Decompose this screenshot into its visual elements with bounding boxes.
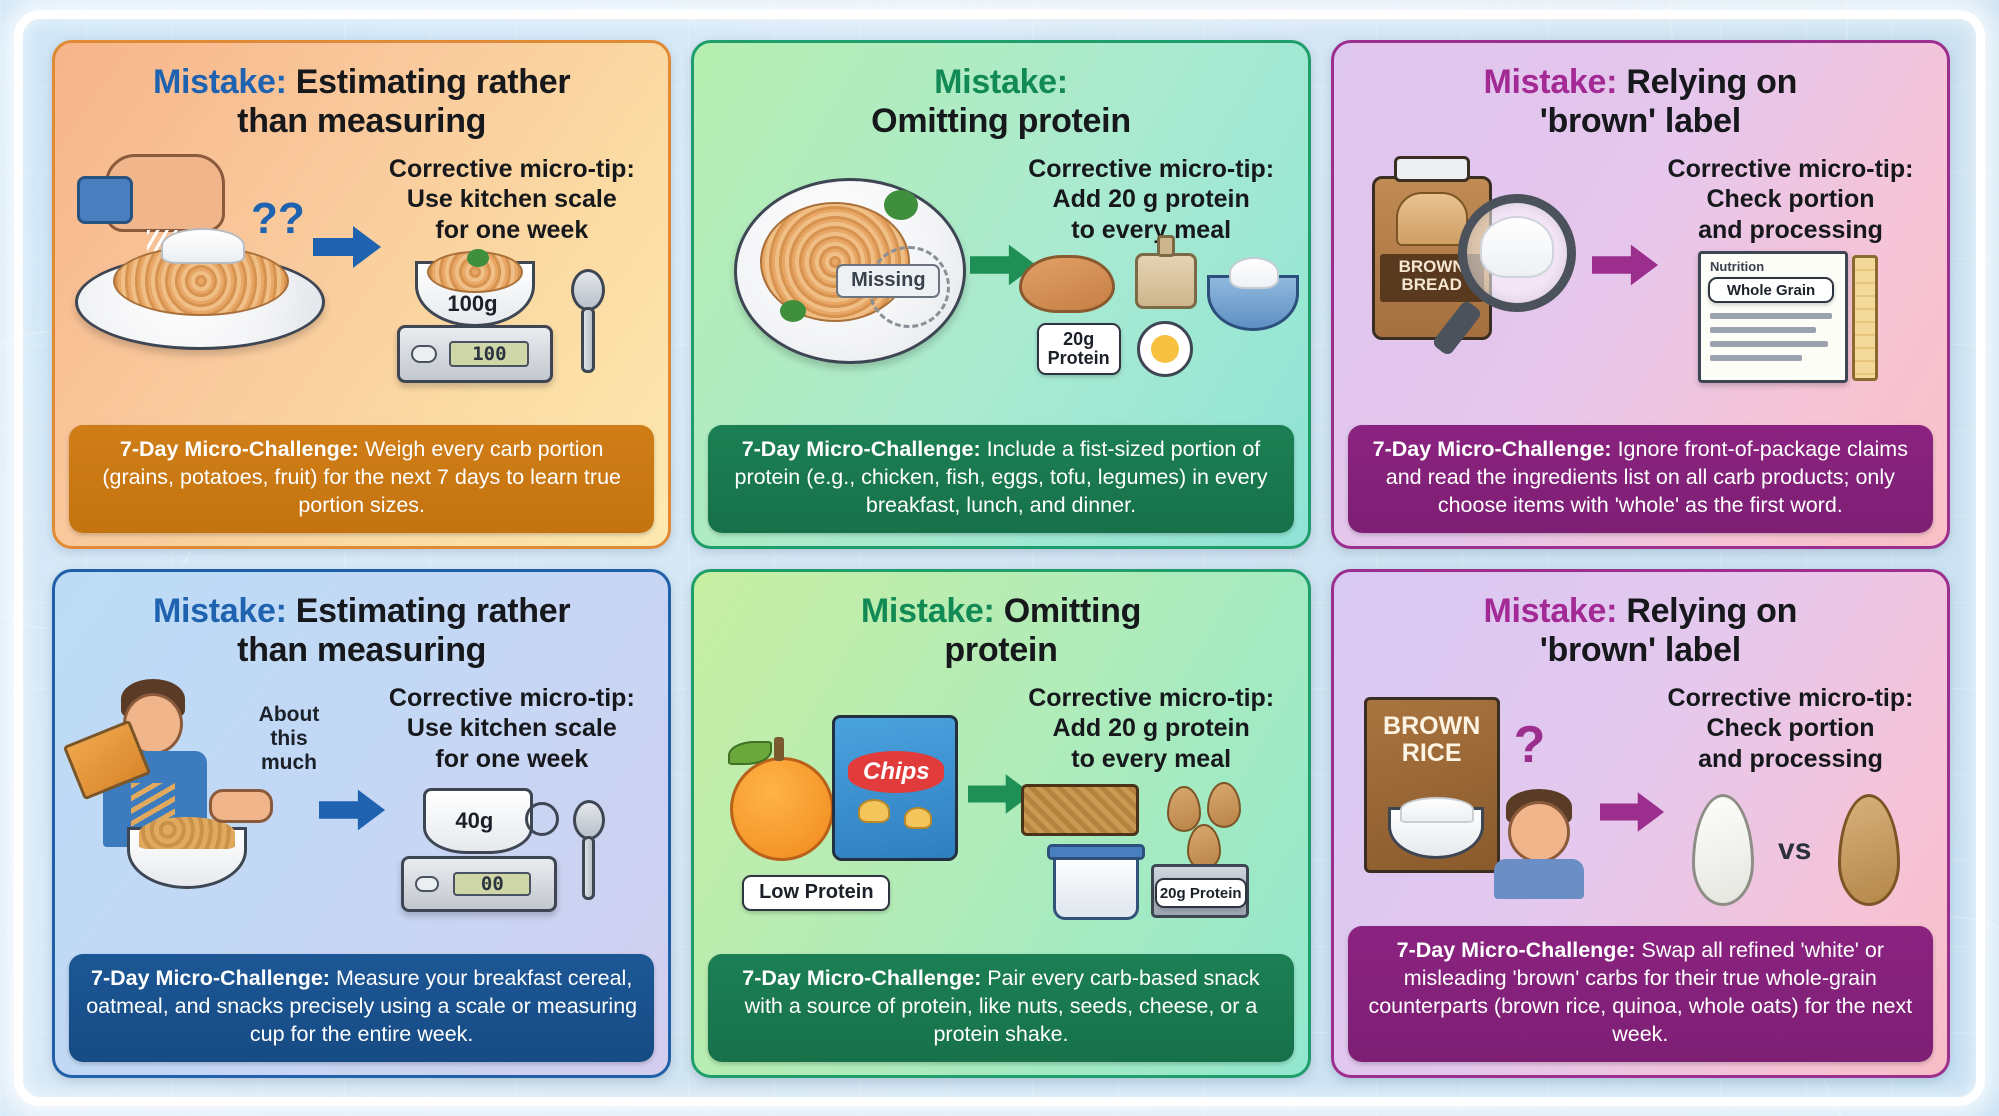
tip-line-2: Use kitchen scale bbox=[375, 184, 648, 215]
egg-yolk-icon bbox=[1151, 335, 1179, 363]
card-body: BROWN BREAD Corrective micro-tip: Check … bbox=[1334, 146, 1947, 425]
about-line-2: this bbox=[270, 727, 307, 750]
broccoli-icon bbox=[884, 190, 918, 220]
tip-line-1: Corrective micro-tip: bbox=[1015, 154, 1288, 185]
doc-line bbox=[1710, 327, 1816, 333]
about-this-much-label: About this much bbox=[247, 703, 331, 775]
weight-label: 100g bbox=[447, 291, 497, 318]
about-line-3: much bbox=[261, 751, 317, 774]
illustration-hand-rice-pasta: ?? bbox=[69, 150, 373, 425]
card-body: ?? Corrective micro-tip: Use kitchen sca… bbox=[55, 146, 668, 425]
card-title-rest-2: than measuring bbox=[237, 102, 486, 140]
protein-tag-line-1: 20g bbox=[1063, 330, 1094, 349]
chips-logo: Chips bbox=[848, 751, 944, 793]
chicken-breast-icon bbox=[1019, 255, 1115, 313]
almond-icon bbox=[1207, 782, 1241, 828]
card-estimating-bottom[interactable]: Mistake: Estimating rather than measurin… bbox=[52, 569, 671, 1078]
bread-label-line-1: BROWN bbox=[1399, 257, 1465, 276]
tip-text: Corrective micro-tip: Add 20 g protein t… bbox=[1013, 679, 1294, 941]
scoop-handle-icon bbox=[1157, 235, 1175, 257]
ruler-icon bbox=[1852, 255, 1878, 381]
scale-display: 00 bbox=[453, 872, 531, 896]
tip-line-1: Corrective micro-tip: bbox=[1654, 154, 1927, 185]
brown-grain-icon bbox=[1838, 794, 1900, 906]
card-title: Mistake: Omitting protein bbox=[694, 572, 1307, 675]
illustration-brown-rice-box: BROWN RICE ? bbox=[1348, 679, 1652, 926]
low-protein-label: Low Protein bbox=[742, 875, 890, 911]
challenge-banner: 7-Day Micro-Challenge: Pair every carb-b… bbox=[708, 954, 1293, 1062]
tip-line-2: Check portion bbox=[1654, 184, 1927, 215]
challenge-label: 7-Day Micro-Challenge: bbox=[1397, 938, 1642, 962]
card-title-rest-1: Omitting protein bbox=[871, 102, 1131, 140]
spoon-icon bbox=[573, 800, 605, 840]
tip-line-1: Corrective micro-tip: bbox=[375, 683, 648, 714]
card-body: Missing Corrective micro-tip: Add 20 g p… bbox=[694, 146, 1307, 425]
tip-line-3: for one week bbox=[375, 215, 648, 246]
torso-icon bbox=[1494, 859, 1584, 899]
tip-text: Corrective micro-tip: Use kitchen scale … bbox=[373, 150, 654, 406]
card-title-rest-2: than measuring bbox=[237, 631, 486, 669]
card-title-rest-2: protein bbox=[944, 631, 1057, 669]
challenge-banner: 7-Day Micro-Challenge: Include a fist-si… bbox=[708, 425, 1293, 533]
whole-grain-claim-label: Whole Grain bbox=[1708, 277, 1834, 303]
tip-line-2: Add 20 g protein bbox=[1015, 713, 1288, 744]
almond-icon bbox=[1167, 786, 1201, 832]
card-body: BROWN RICE ? Corrective micro-tip: Check… bbox=[1334, 675, 1947, 926]
rice-mound-icon bbox=[161, 228, 245, 264]
bread-slice-icon bbox=[1396, 192, 1468, 246]
card-title: Mistake: Estimating rather than measurin… bbox=[55, 572, 668, 675]
scale-button-icon bbox=[415, 876, 439, 892]
card-title-lead: Mistake: bbox=[1484, 592, 1627, 630]
tip-line-3: for one week bbox=[375, 744, 648, 775]
cup-handle-icon bbox=[525, 802, 559, 836]
card-title: Mistake: Relying on 'brown' label bbox=[1334, 43, 1947, 146]
bread-bag-top-icon bbox=[1394, 156, 1470, 182]
yogurt-lid-icon bbox=[1047, 844, 1145, 860]
doc-line bbox=[1710, 341, 1828, 347]
card-estimating-top[interactable]: Mistake: Estimating rather than measurin… bbox=[52, 40, 671, 549]
illustration-person-pouring-cereal: About this much bbox=[69, 679, 373, 954]
tip-line-3: and processing bbox=[1654, 215, 1927, 246]
protein-tag-line-2: Protein bbox=[1048, 349, 1110, 368]
scale-button-icon bbox=[411, 345, 437, 363]
card-title: Mistake: Relying on 'brown' label bbox=[1334, 572, 1947, 675]
protein-bar-icon bbox=[1021, 784, 1139, 836]
hand-open-icon bbox=[209, 789, 273, 823]
card-title-lead: Mistake: bbox=[153, 63, 296, 101]
question-mark-label: ? bbox=[1514, 715, 1546, 775]
card-title-rest-1: Estimating rather bbox=[296, 63, 571, 101]
card-title-lead: Mistake: bbox=[861, 592, 1004, 630]
rice-pile-icon bbox=[1400, 797, 1474, 823]
white-grain-icon bbox=[1692, 794, 1754, 906]
tip-line-2: Use kitchen scale bbox=[375, 713, 648, 744]
card-title-lead: Mistake: bbox=[1484, 63, 1627, 101]
weight-label: 40g bbox=[455, 808, 493, 835]
orange-icon bbox=[730, 757, 834, 861]
bread-label-line-2: BREAD bbox=[1401, 275, 1461, 294]
challenge-banner: 7-Day Micro-Challenge: Measure your brea… bbox=[69, 954, 654, 1062]
tip-line-1: Corrective micro-tip: bbox=[1654, 683, 1927, 714]
challenge-banner: 7-Day Micro-Challenge: Ignore front-of-p… bbox=[1348, 425, 1933, 533]
challenge-label: 7-Day Micro-Challenge: bbox=[120, 437, 365, 461]
tip-line-3: to every meal bbox=[1015, 215, 1288, 246]
illustration-orange-chips: Chips Low Protein bbox=[708, 679, 1012, 954]
missing-label: Missing bbox=[836, 264, 940, 298]
tip-line-3: to every meal bbox=[1015, 744, 1288, 775]
card-brown-label-top[interactable]: Mistake: Relying on 'brown' label BROWN … bbox=[1331, 40, 1950, 549]
challenge-label: 7-Day Micro-Challenge: bbox=[742, 966, 987, 990]
illustration-plate-missing-protein: Missing bbox=[708, 150, 1012, 425]
head-icon bbox=[1508, 801, 1570, 863]
card-title-rest-2: 'brown' label bbox=[1540, 102, 1741, 140]
box-line-2: RICE bbox=[1402, 739, 1462, 767]
about-line-1: About bbox=[259, 703, 320, 726]
vs-label: vs bbox=[1778, 832, 1811, 869]
tip-text: Corrective micro-tip: Add 20 g protein t… bbox=[1013, 150, 1294, 402]
flour-icon bbox=[1480, 216, 1554, 278]
tip-text: Corrective micro-tip: Use kitchen scale … bbox=[373, 679, 654, 935]
challenge-banner: 7-Day Micro-Challenge: Weigh every carb … bbox=[69, 425, 654, 533]
challenge-label: 7-Day Micro-Challenge: bbox=[742, 437, 987, 461]
spoon-handle bbox=[581, 307, 595, 373]
challenge-label: 7-Day Micro-Challenge: bbox=[91, 966, 336, 990]
tip-line-2: Add 20 g protein bbox=[1015, 184, 1288, 215]
card-body: Chips Low Protein Corrective micro-tip: … bbox=[694, 675, 1307, 954]
doc-title-label: Nutrition bbox=[1710, 259, 1764, 275]
challenge-label: 7-Day Micro-Challenge: bbox=[1373, 437, 1618, 461]
tip-text: Corrective micro-tip: Check portion and … bbox=[1652, 679, 1933, 949]
doc-line bbox=[1710, 313, 1832, 319]
card-title: Mistake: Omitting protein bbox=[694, 43, 1307, 146]
card-title-rest-1: Relying on bbox=[1626, 592, 1797, 630]
broccoli-icon bbox=[780, 300, 806, 322]
tip-line-1: Corrective micro-tip: bbox=[375, 154, 648, 185]
tip-line-1: Corrective micro-tip: bbox=[1015, 683, 1288, 714]
arrow-right-icon bbox=[313, 224, 383, 270]
tip-text: Corrective micro-tip: Check portion and … bbox=[1652, 150, 1933, 402]
scale-display: 100 bbox=[449, 341, 529, 367]
doc-line bbox=[1710, 355, 1802, 361]
card-title-rest-1: Omitting bbox=[1004, 592, 1141, 630]
tip-line-2: Check portion bbox=[1654, 713, 1927, 744]
spoon-handle bbox=[582, 836, 595, 900]
card-title-rest-1: Estimating rather bbox=[296, 592, 571, 630]
card-body: About this much Corrective micro-tip: Us… bbox=[55, 675, 668, 954]
question-mark-label: ?? bbox=[251, 194, 305, 244]
card-title: Mistake: Estimating rather than measurin… bbox=[55, 43, 668, 146]
protein-tag: 20g Protein bbox=[1155, 878, 1247, 908]
chip-piece-icon bbox=[904, 807, 932, 829]
box-line-1: BROWN bbox=[1383, 712, 1480, 740]
protein-scoop-icon bbox=[1135, 253, 1197, 309]
protein-tag: 20g Protein bbox=[1037, 323, 1121, 375]
card-brown-label-bottom[interactable]: Mistake: Relying on 'brown' label BROWN … bbox=[1331, 569, 1950, 1078]
chip-piece-icon bbox=[858, 799, 890, 823]
card-omitting-protein-top[interactable]: Mistake: Omitting protein Missing Correc… bbox=[691, 40, 1310, 549]
card-title-lead: Mistake: bbox=[153, 592, 296, 630]
rice-box-label: BROWN RICE bbox=[1370, 713, 1494, 768]
card-title-rest-2: 'brown' label bbox=[1540, 631, 1741, 669]
illustration-bread-magnifier: BROWN BREAD bbox=[1348, 150, 1652, 425]
tip-line-3: and processing bbox=[1654, 744, 1927, 775]
card-title-rest-1: Relying on bbox=[1626, 63, 1797, 101]
sleeve-icon bbox=[77, 176, 133, 224]
card-omitting-protein-bottom[interactable]: Mistake: Omitting protein Chips Low Prot… bbox=[691, 569, 1310, 1078]
card-title-lead: Mistake: bbox=[934, 63, 1068, 101]
yogurt-swirl-icon bbox=[1229, 257, 1279, 289]
yogurt-cup-icon bbox=[1053, 852, 1139, 920]
orange-stem-icon bbox=[774, 737, 784, 761]
card-grid: Mistake: Estimating rather than measurin… bbox=[52, 40, 1950, 1078]
arrow-right-icon bbox=[1592, 242, 1660, 288]
spoon-icon bbox=[571, 269, 605, 311]
